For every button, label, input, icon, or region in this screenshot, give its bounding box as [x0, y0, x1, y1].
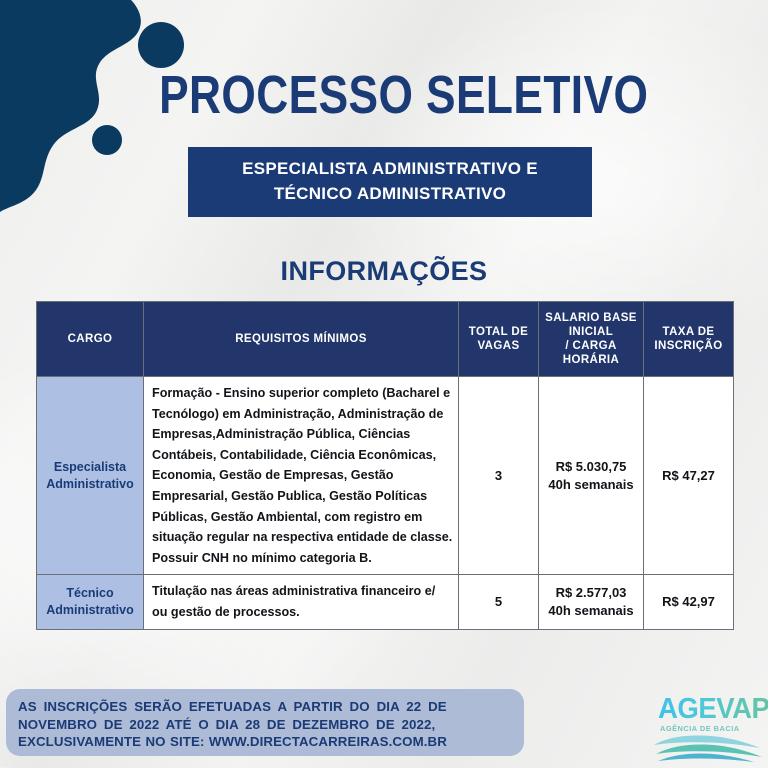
header-vagas-line-1: TOTAL DE: [469, 326, 528, 338]
footer-registration-info: AS INSCRIÇÕES SERÃO EFETUADAS A PARTIR D…: [18, 698, 510, 751]
decorative-dot-large: [138, 22, 184, 68]
subtitle-banner: ESPECIALISTA ADMINISTRATIVO E TÉCNICO AD…: [188, 147, 592, 217]
cargo-line-1: Técnico: [66, 586, 113, 600]
header-taxa-line-1: TAXA DE: [663, 326, 715, 338]
page-title: PROCESSO SELETIVO: [69, 66, 699, 124]
cell-total-vagas: 5: [459, 575, 539, 629]
subtitle-line-1: ESPECIALISTA ADMINISTRATIVO E: [188, 156, 592, 181]
blob-shape-icon: [0, 0, 260, 270]
table-row: Técnico Administrativo Titulação nas áre…: [37, 575, 734, 629]
water-waves-icon: [652, 732, 764, 764]
column-header-total-vagas: TOTAL DE VAGAS: [459, 302, 539, 377]
requisitos-text: Formação - Ensino superior completo (Bac…: [152, 386, 452, 544]
cell-requisitos: Formação - Ensino superior completo (Bac…: [144, 377, 459, 575]
cell-cargo: Técnico Administrativo: [37, 575, 144, 629]
decorative-dot-small: [92, 125, 122, 155]
column-header-cargo: CARGO: [37, 302, 144, 377]
footer-line-1: AS INSCRIÇÕES SERÃO EFETUADAS A PARTIR D…: [18, 698, 510, 716]
cell-salario-carga: R$ 5.030,75 40h semanais: [539, 377, 644, 575]
cell-cargo: Especialista Administrativo: [37, 377, 144, 575]
subtitle-line-2: TÉCNICO ADMINISTRATIVO: [188, 181, 592, 206]
table-row: Especialista Administrativo Formação - E…: [37, 377, 734, 575]
footer-line-2: NOVEMBRO DE 2022 ATÉ O DIA 28 DE DEZEMBR…: [18, 716, 510, 734]
logo-wordmark: AGEVAP: [658, 694, 768, 724]
header-salario-line-4: HORÁRIA: [563, 354, 619, 366]
information-table: CARGO REQUISITOS MÍNIMOS TOTAL DE VAGAS …: [36, 301, 734, 630]
cell-taxa-inscricao: R$ 42,97: [644, 575, 734, 629]
poster-canvas: PROCESSO SELETIVO ESPECIALISTA ADMINISTR…: [0, 0, 768, 768]
header-salario-line-2: INICIAL: [569, 326, 613, 338]
footer-line-3[interactable]: EXCLUSIVAMENTE NO SITE: WWW.DIRECTACARRE…: [18, 733, 510, 751]
section-title-informacoes: INFORMAÇÕES: [0, 256, 768, 287]
cell-total-vagas: 3: [459, 377, 539, 575]
carga-horaria-value: 40h semanais: [541, 476, 641, 494]
salario-value: R$ 5.030,75: [541, 458, 641, 476]
column-header-salario-carga: SALARIO BASE INICIAL / CARGA HORÁRIA: [539, 302, 644, 377]
agevap-logo: AGEVAP AGÊNCIA DE BACIA: [652, 694, 764, 764]
column-header-requisitos: REQUISITOS MÍNIMOS: [144, 302, 459, 377]
cargo-line-2: Administrativo: [46, 477, 134, 491]
carga-horaria-value: 40h semanais: [541, 602, 641, 620]
cell-requisitos: Titulação nas áreas administrativa finan…: [144, 575, 459, 629]
header-vagas-line-2: VAGAS: [477, 340, 519, 352]
salario-value: R$ 2.577,03: [541, 584, 641, 602]
header-salario-line-3: / CARGA: [565, 340, 616, 352]
cell-taxa-inscricao: R$ 47,27: [644, 377, 734, 575]
cargo-line-1: Especialista: [54, 460, 126, 474]
corner-blob-decoration: [0, 0, 260, 270]
cell-salario-carga: R$ 2.577,03 40h semanais: [539, 575, 644, 629]
header-salario-line-1: SALARIO BASE: [545, 312, 637, 324]
cargo-line-2: Administrativo: [46, 603, 134, 617]
column-header-taxa-inscricao: TAXA DE INSCRIÇÃO: [644, 302, 734, 377]
table-header-row: CARGO REQUISITOS MÍNIMOS TOTAL DE VAGAS …: [37, 302, 734, 377]
requisitos-extra-text: Possuir CNH no mínimo categoria B.: [152, 551, 372, 565]
header-taxa-line-2: INSCRIÇÃO: [654, 340, 722, 352]
